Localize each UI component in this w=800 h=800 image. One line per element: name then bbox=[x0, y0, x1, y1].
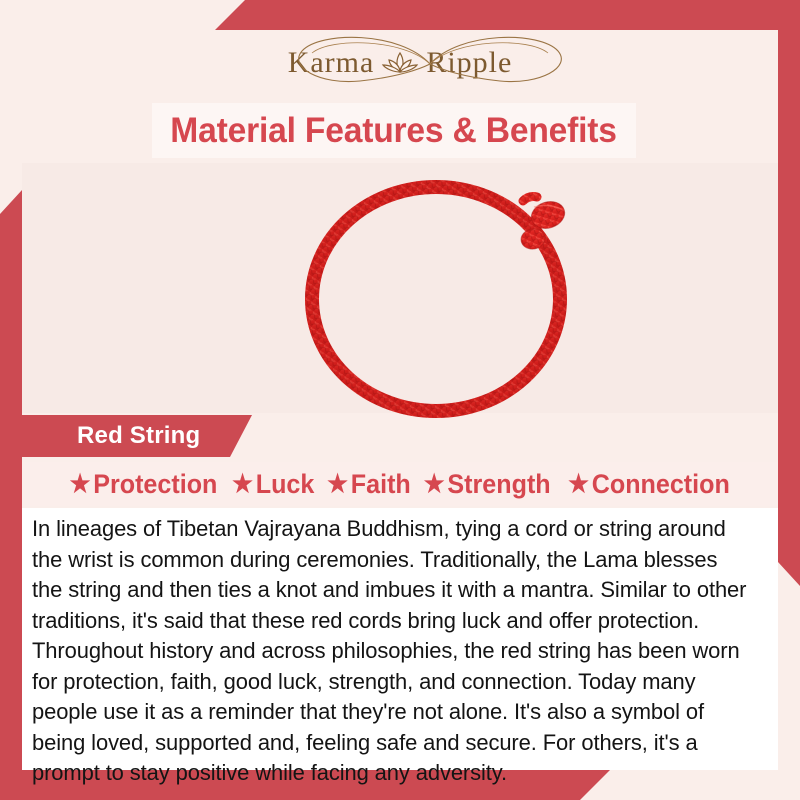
star-icon: ★ bbox=[424, 472, 445, 497]
feature-label: Luck bbox=[256, 471, 315, 498]
material-label: Red String bbox=[22, 422, 200, 450]
infographic-page: Karma Ripple Material Features & Benefit… bbox=[0, 0, 800, 800]
feature-label: Protection bbox=[93, 471, 217, 498]
feature-label: Faith bbox=[350, 471, 410, 498]
description-card: In lineages of Tibetan Vajrayana Buddhis… bbox=[22, 508, 778, 770]
brand-name-left: Karma bbox=[288, 48, 375, 78]
red-string-bracelet-image bbox=[284, 171, 604, 421]
material-label-banner: Red String bbox=[22, 415, 252, 457]
brand-logo: Karma Ripple bbox=[0, 32, 800, 94]
feature-label: Connection bbox=[592, 471, 730, 498]
feature-item-protection: ★ Protection bbox=[70, 471, 218, 498]
description-text: In lineages of Tibetan Vajrayana Buddhis… bbox=[32, 514, 750, 789]
star-icon: ★ bbox=[70, 472, 91, 497]
decor-band-right bbox=[778, 30, 800, 586]
brand-name-right: Ripple bbox=[426, 48, 512, 78]
title-banner: Material Features & Benefits bbox=[152, 103, 636, 158]
feature-label: Strength bbox=[448, 471, 551, 498]
feature-item-strength: ★ Strength bbox=[424, 471, 551, 498]
page-title: Material Features & Benefits bbox=[171, 111, 618, 151]
features-row: ★ Protection ★ Luck ★ Faith ★ Strength ★… bbox=[22, 462, 778, 506]
star-icon: ★ bbox=[327, 472, 348, 497]
lotus-icon bbox=[378, 41, 422, 85]
hero-section bbox=[22, 163, 778, 413]
feature-item-connection: ★ Connection bbox=[568, 471, 730, 498]
decor-band-left bbox=[0, 190, 22, 770]
feature-item-faith: ★ Faith bbox=[327, 471, 411, 498]
decor-bar-top bbox=[215, 0, 800, 30]
star-icon: ★ bbox=[568, 472, 589, 497]
feature-item-luck: ★ Luck bbox=[232, 471, 314, 498]
star-icon: ★ bbox=[232, 472, 253, 497]
